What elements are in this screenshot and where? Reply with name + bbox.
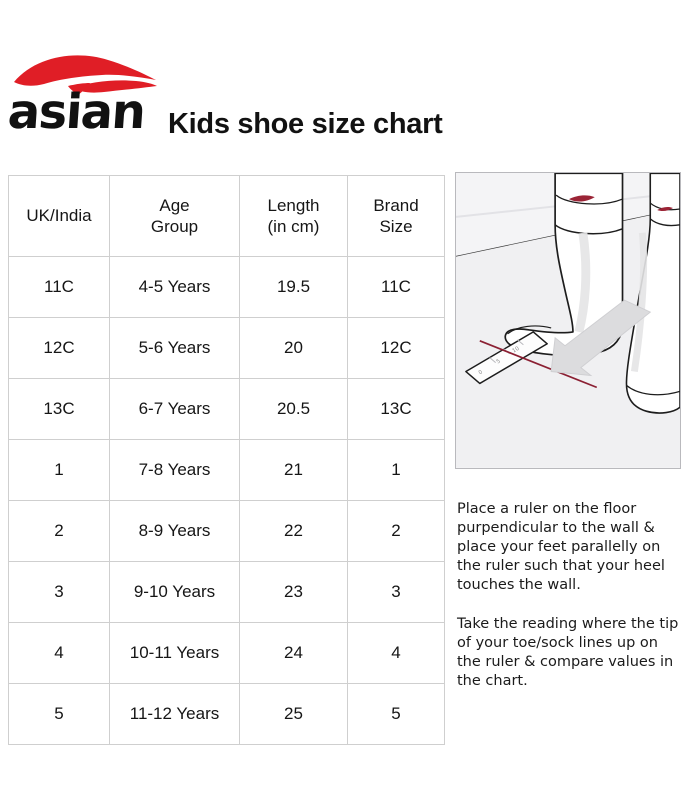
cell-age-group: 11-12 Years <box>110 684 240 745</box>
cell-uk-india: 4 <box>9 623 110 684</box>
cell-length: 23 <box>240 562 348 623</box>
table-header: UK/India Age Group Length (in cm) Brand … <box>9 176 445 257</box>
brand-logo: asian <box>8 48 163 148</box>
header: asian Kids shoe size chart <box>0 0 683 160</box>
table-row: 11C 4-5 Years 19.5 11C <box>9 257 445 318</box>
cell-age-group: 10-11 Years <box>110 623 240 684</box>
cell-age-group: 5-6 Years <box>110 318 240 379</box>
table-header-row: UK/India Age Group Length (in cm) Brand … <box>9 176 445 257</box>
cell-length: 20 <box>240 318 348 379</box>
cell-brand-size: 4 <box>348 623 445 684</box>
illustration-graphic: 0 5 10 <box>456 173 680 468</box>
cell-length: 22 <box>240 501 348 562</box>
column-header-length: Length (in cm) <box>240 176 348 257</box>
table-row: 12C 5-6 Years 20 12C <box>9 318 445 379</box>
column-header-line-1: Length <box>240 195 347 216</box>
cell-age-group: 8-9 Years <box>110 501 240 562</box>
column-header-line-1: UK/India <box>9 205 109 226</box>
column-header-uk-india: UK/India <box>9 176 110 257</box>
column-header-line-2: Size <box>348 216 444 237</box>
table-row: 13C 6-7 Years 20.5 13C <box>9 379 445 440</box>
column-header-line-1: Age <box>110 195 239 216</box>
column-header-line-2: Group <box>110 216 239 237</box>
table-row: 5 11-12 Years 25 5 <box>9 684 445 745</box>
cell-brand-size: 3 <box>348 562 445 623</box>
cell-uk-india: 13C <box>9 379 110 440</box>
cell-uk-india: 2 <box>9 501 110 562</box>
cell-length: 25 <box>240 684 348 745</box>
cell-age-group: 6-7 Years <box>110 379 240 440</box>
cell-age-group: 9-10 Years <box>110 562 240 623</box>
cell-uk-india: 1 <box>9 440 110 501</box>
column-header-brand-size: Brand Size <box>348 176 445 257</box>
table-row: 2 8-9 Years 22 2 <box>9 501 445 562</box>
cell-length: 21 <box>240 440 348 501</box>
cell-brand-size: 1 <box>348 440 445 501</box>
cell-length: 24 <box>240 623 348 684</box>
brand-wordmark: asian <box>6 88 146 136</box>
table-row: 1 7-8 Years 21 1 <box>9 440 445 501</box>
feet-measuring-illustration: 0 5 10 <box>455 172 681 469</box>
cell-uk-india: 5 <box>9 684 110 745</box>
table-body: 11C 4-5 Years 19.5 11C 12C 5-6 Years 20 … <box>9 257 445 745</box>
cell-length: 20.5 <box>240 379 348 440</box>
cell-uk-india: 12C <box>9 318 110 379</box>
cell-age-group: 7-8 Years <box>110 440 240 501</box>
cell-brand-size: 2 <box>348 501 445 562</box>
shoe-size-table: UK/India Age Group Length (in cm) Brand … <box>8 175 445 745</box>
cell-age-group: 4-5 Years <box>110 257 240 318</box>
page-title: Kids shoe size chart <box>168 108 442 141</box>
cell-brand-size: 11C <box>348 257 445 318</box>
cell-uk-india: 3 <box>9 562 110 623</box>
cell-brand-size: 5 <box>348 684 445 745</box>
column-header-age-group: Age Group <box>110 176 240 257</box>
table-row: 3 9-10 Years 23 3 <box>9 562 445 623</box>
cell-length: 19.5 <box>240 257 348 318</box>
instruction-text-2: Take the reading where the tip of your t… <box>457 615 681 692</box>
cell-brand-size: 12C <box>348 318 445 379</box>
instruction-text-1: Place a ruler on the floor purpendicular… <box>457 500 681 596</box>
cell-brand-size: 13C <box>348 379 445 440</box>
table-row: 4 10-11 Years 24 4 <box>9 623 445 684</box>
cell-uk-india: 11C <box>9 257 110 318</box>
column-header-line-2: (in cm) <box>240 216 347 237</box>
column-header-line-1: Brand <box>348 195 444 216</box>
